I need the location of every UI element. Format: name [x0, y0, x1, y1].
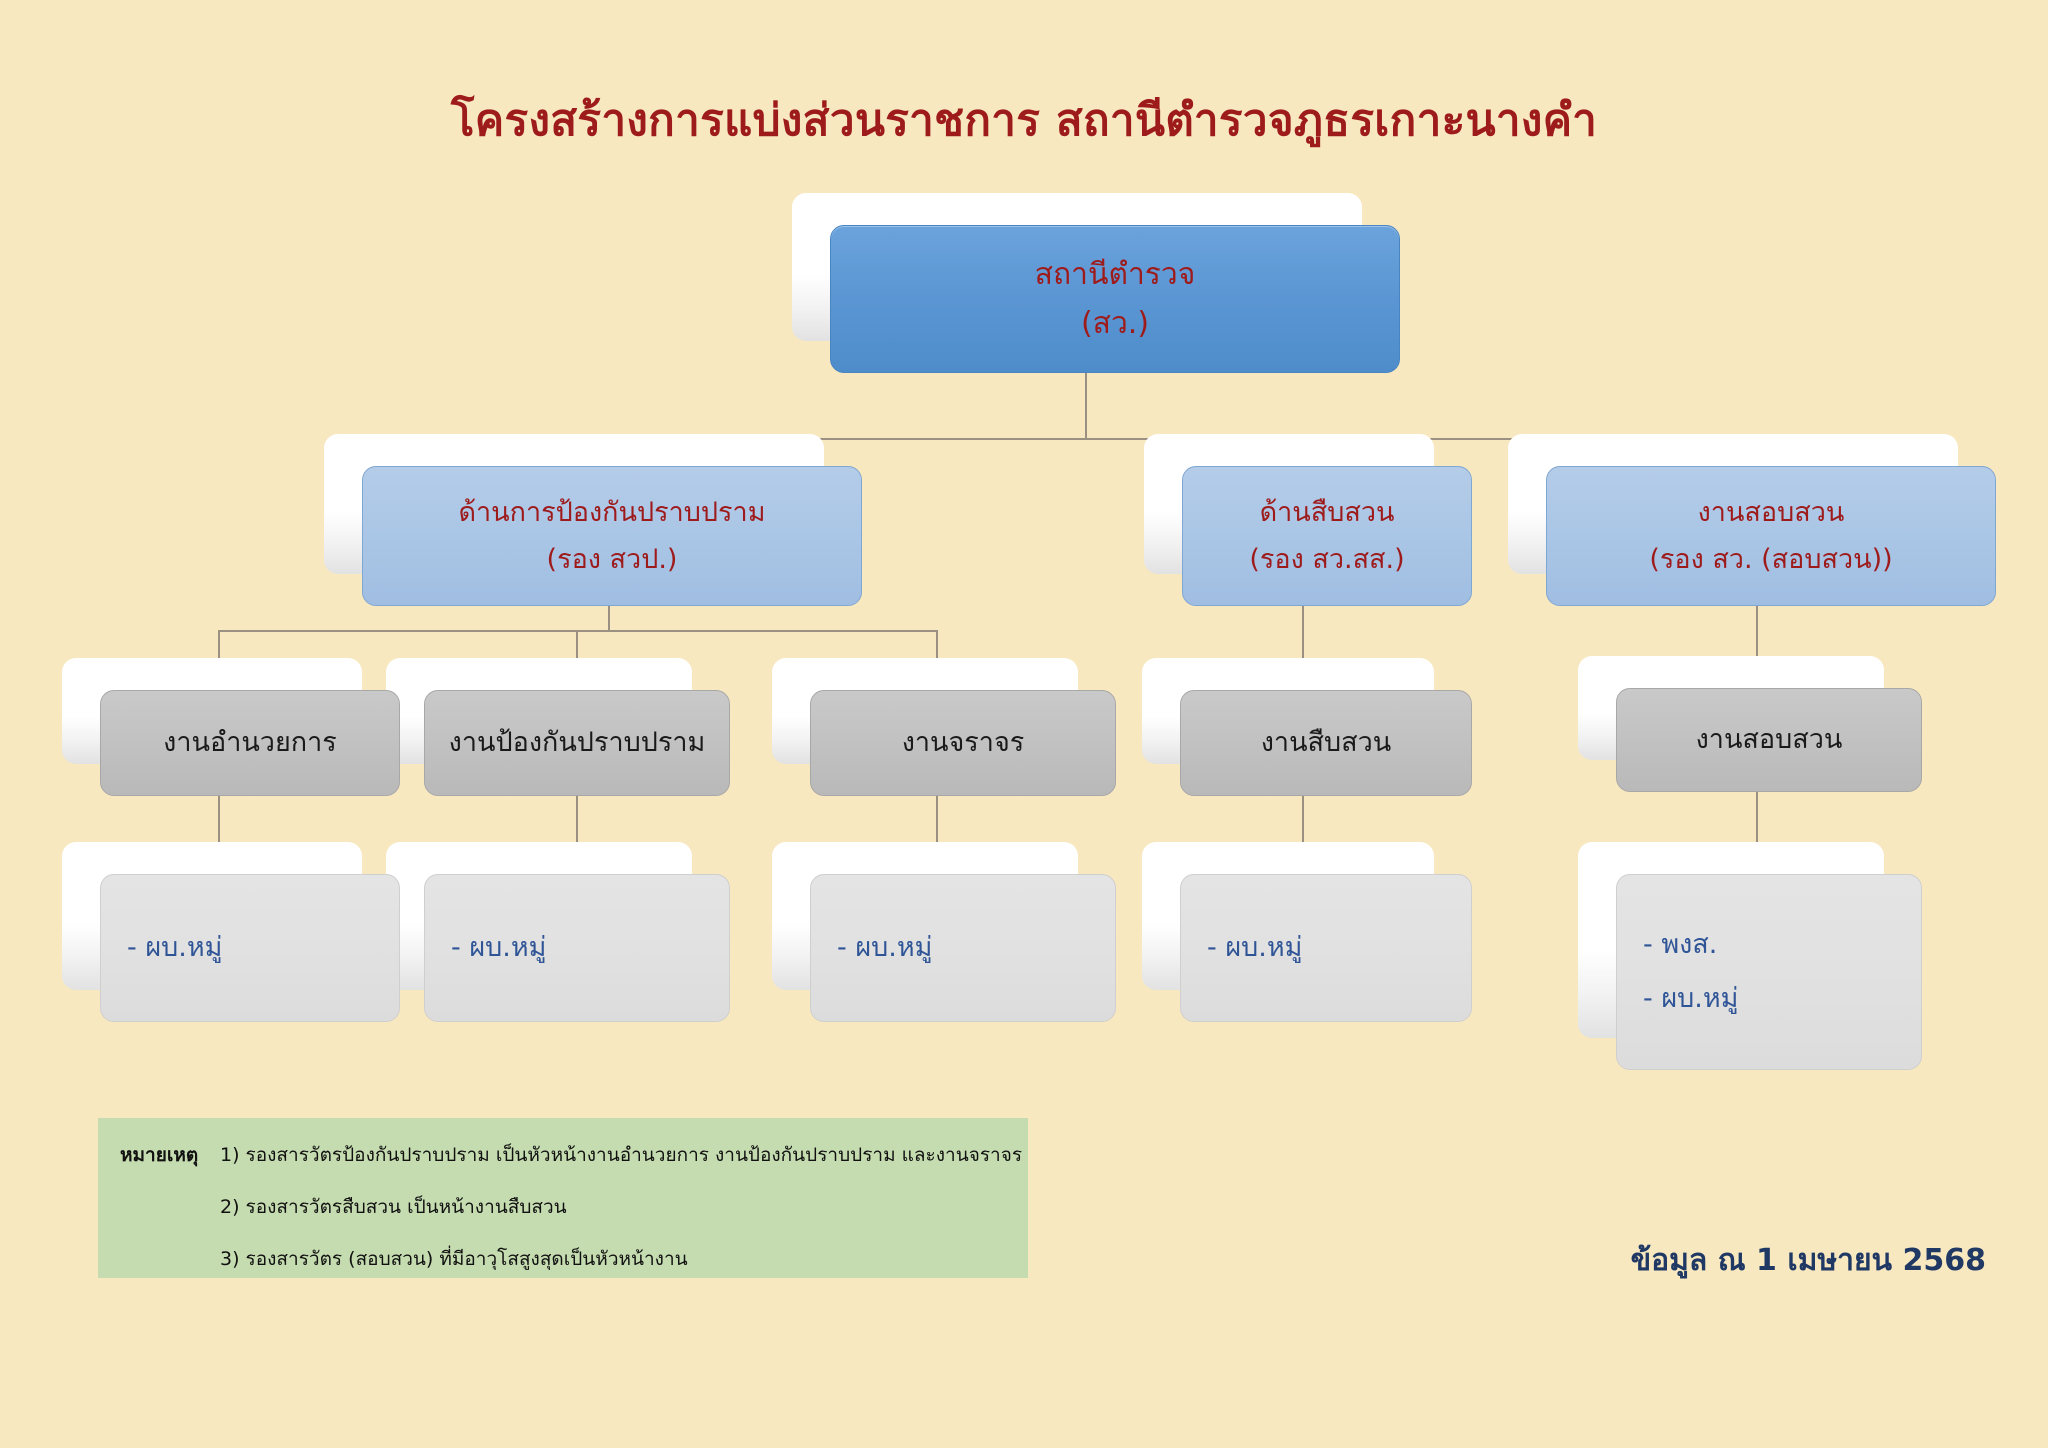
node-section-investigation[interactable]: งานสืบสวน	[1180, 690, 1472, 796]
node-section-administration[interactable]: งานอำนวยการ	[100, 690, 400, 796]
node-division-role: (รอง สว.สส.)	[1249, 536, 1404, 583]
node-root-role: (สว.)	[1081, 299, 1149, 349]
notes-row: หมายเหตุ 1) รองสารวัตรป้องกันปราบปราม เป…	[120, 1140, 1004, 1170]
node-section-prevention-box[interactable]: งานป้องกันปราบปราม	[424, 690, 730, 796]
notes-item-1: 1) รองสารวัตรป้องกันปราบปราม เป็นหัวหน้า…	[220, 1140, 1022, 1170]
node-division-prevention-box[interactable]: ด้านการป้องกันปราบปราม (รอง สวป.)	[362, 466, 862, 606]
node-staff-inquiry-box[interactable]: - พงส. - ผบ.หมู่	[1616, 874, 1922, 1070]
node-staff-inquiry[interactable]: - พงส. - ผบ.หมู่	[1616, 874, 1922, 1070]
node-section-traffic[interactable]: งานจราจร	[810, 690, 1116, 796]
node-root[interactable]: สถานีตำรวจ (สว.)	[830, 225, 1400, 373]
data-as-of-date: ข้อมูล ณ 1 เมษายน 2568	[1631, 1237, 1986, 1284]
node-section-traffic-box[interactable]: งานจราจร	[810, 690, 1116, 796]
node-division-name: ด้านการป้องกันปราบปราม	[458, 489, 765, 536]
connector-div1-bus	[218, 630, 938, 632]
node-division-name: ด้านสืบสวน	[1260, 489, 1395, 536]
node-staff-traffic[interactable]: - ผบ.หมู่	[810, 874, 1116, 1022]
connector-div1-stem	[608, 604, 610, 632]
notes-box: หมายเหตุ 1) รองสารวัตรป้องกันปราบปราม เป…	[98, 1118, 1028, 1278]
node-division-inquiry-box[interactable]: งานสอบสวน (รอง สว. (สอบสวน))	[1546, 466, 1996, 606]
node-staff-prevention[interactable]: - ผบ.หมู่	[424, 874, 730, 1022]
node-section-name: งานอำนวยการ	[163, 723, 337, 764]
node-section-administration-box[interactable]: งานอำนวยการ	[100, 690, 400, 796]
node-root-box[interactable]: สถานีตำรวจ (สว.)	[830, 225, 1400, 373]
node-division-role: (รอง สวป.)	[547, 536, 678, 583]
node-staff-administration-box[interactable]: - ผบ.หมู่	[100, 874, 400, 1022]
node-division-name: งานสอบสวน	[1698, 489, 1845, 536]
node-staff-prevention-box[interactable]: - ผบ.หมู่	[424, 874, 730, 1022]
staff-line: - ผบ.หมู่	[451, 921, 546, 975]
connector-root-stem	[1085, 372, 1087, 440]
node-division-prevention[interactable]: ด้านการป้องกันปราบปราม (รอง สวป.)	[362, 466, 862, 606]
notes-row: 2) รองสารวัตรสืบสวน เป็นหน้างานสืบสวน	[120, 1192, 1004, 1222]
node-division-investigation-box[interactable]: ด้านสืบสวน (รอง สว.สส.)	[1182, 466, 1472, 606]
staff-line: - พงส.	[1643, 918, 1717, 972]
node-section-name: งานจราจร	[902, 723, 1025, 764]
notes-item-2: 2) รองสารวัตรสืบสวน เป็นหน้างานสืบสวน	[220, 1192, 567, 1222]
node-staff-investigation[interactable]: - ผบ.หมู่	[1180, 874, 1472, 1022]
page-title: โครงสร้างการแบ่งส่วนราชการ สถานีตำรวจภูธ…	[0, 85, 2048, 155]
staff-line: - ผบ.หมู่	[1207, 921, 1302, 975]
node-root-name: สถานีตำรวจ	[1035, 250, 1196, 300]
node-staff-administration[interactable]: - ผบ.หมู่	[100, 874, 400, 1022]
node-section-inquiry-box[interactable]: งานสอบสวน	[1616, 688, 1922, 792]
node-section-name: งานสืบสวน	[1261, 723, 1392, 764]
node-division-role: (รอง สว. (สอบสวน))	[1649, 536, 1892, 583]
node-section-name: งานป้องกันปราบปราม	[449, 723, 706, 764]
node-staff-traffic-box[interactable]: - ผบ.หมู่	[810, 874, 1116, 1022]
node-division-inquiry[interactable]: งานสอบสวน (รอง สว. (สอบสวน))	[1546, 466, 1996, 606]
notes-label: หมายเหตุ	[120, 1140, 220, 1170]
node-division-investigation[interactable]: ด้านสืบสวน (รอง สว.สส.)	[1182, 466, 1472, 606]
staff-line: - ผบ.หมู่	[127, 921, 222, 975]
node-section-inquiry[interactable]: งานสอบสวน	[1616, 688, 1922, 792]
staff-line: - ผบ.หมู่	[837, 921, 932, 975]
node-section-investigation-box[interactable]: งานสืบสวน	[1180, 690, 1472, 796]
org-chart-canvas: โครงสร้างการแบ่งส่วนราชการ สถานีตำรวจภูธ…	[0, 0, 2048, 1448]
notes-item-3: 3) รองสารวัตร (สอบสวน) ที่มีอาวุโสสูงสุด…	[220, 1244, 688, 1274]
notes-row: 3) รองสารวัตร (สอบสวน) ที่มีอาวุโสสูงสุด…	[120, 1244, 1004, 1274]
node-staff-investigation-box[interactable]: - ผบ.หมู่	[1180, 874, 1472, 1022]
staff-line: - ผบ.หมู่	[1643, 972, 1738, 1026]
node-section-name: งานสอบสวน	[1696, 720, 1843, 761]
node-section-prevention[interactable]: งานป้องกันปราบปราม	[424, 690, 730, 796]
